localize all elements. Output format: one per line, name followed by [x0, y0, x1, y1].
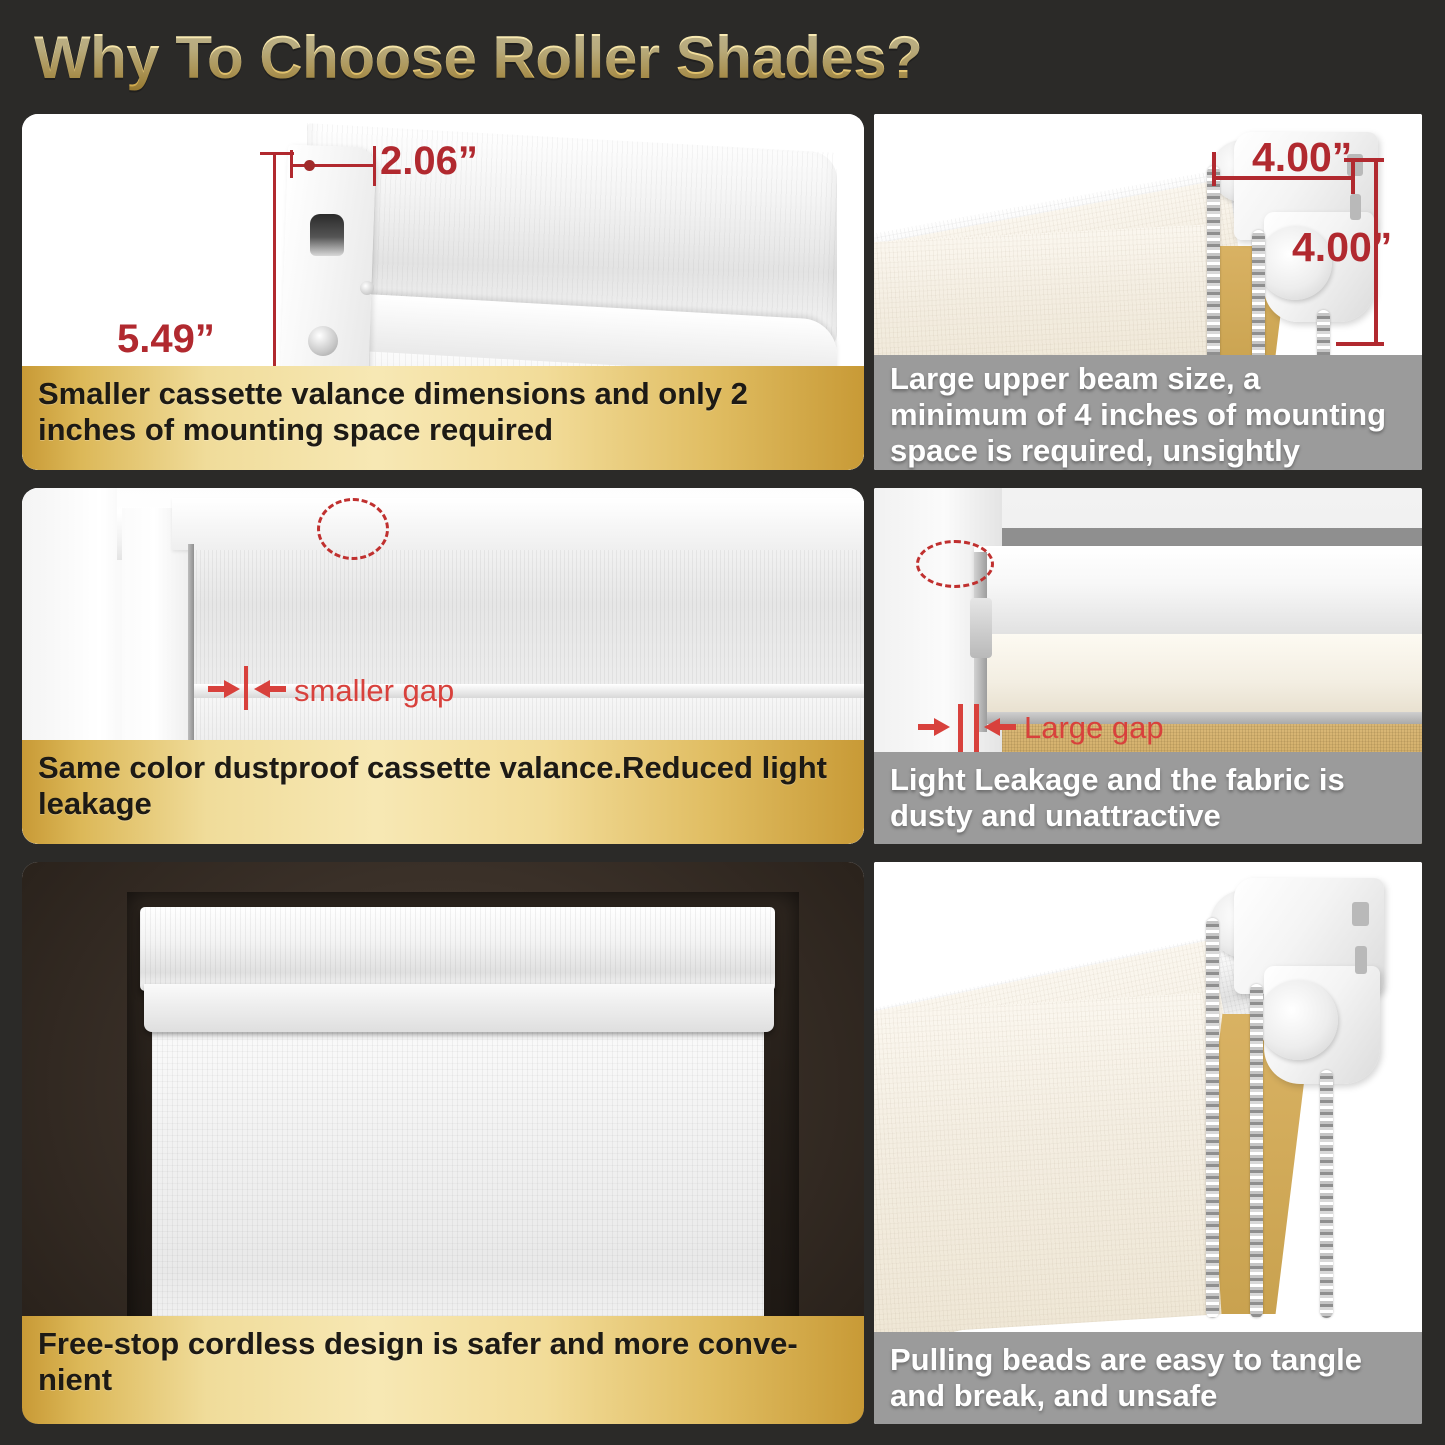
cassette-screw-upper — [360, 281, 374, 295]
bead-chain-left — [1206, 918, 1219, 1318]
gap-arrow-right-icon — [254, 678, 286, 700]
beam-height-label: 4.00” — [1292, 224, 1392, 271]
panel-1-photo: 2.06” 5.49” Smaller cassette valance dim… — [22, 114, 864, 470]
competitor-clip — [970, 598, 992, 658]
cassette-end-cap — [280, 145, 377, 393]
highlight-circle — [317, 498, 389, 560]
beam-height-tick-bottom — [1336, 342, 1384, 346]
bracket-notch-mid — [1355, 946, 1367, 974]
competitor-valance-lower — [984, 634, 1422, 714]
roller-shade-fabric — [152, 1030, 764, 1352]
beam-width-label: 4.00” — [1252, 134, 1352, 181]
panel-6-photo: Pulling beads are easy to tangle and bre… — [874, 862, 1422, 1424]
panel-5-caption: Free-stop cordless design is safer and m… — [22, 1316, 864, 1424]
roller-end-roundel-lower — [1258, 980, 1338, 1060]
gap-arrow-right-icon — [984, 716, 1016, 738]
bead-chain-mid — [1250, 984, 1263, 1318]
panel-6-caption: Pulling beads are easy to tangle and bre… — [874, 1332, 1422, 1424]
gap-marker-bar-2 — [974, 704, 979, 754]
cassette-valance-lip — [144, 984, 774, 1032]
highlight-circle — [916, 540, 994, 588]
bracket-notch-top — [1352, 902, 1369, 926]
panel-4-photo: Large gap Light Leakage and the fabric i… — [874, 488, 1422, 844]
width-dim-tick-right — [373, 146, 376, 186]
shade-fabric-front — [874, 993, 1221, 1337]
panel-2-caption: Large upper beam size, a minimum of 4 in… — [874, 355, 1422, 470]
panel-cordless-design: Free-stop cordless design is safer and m… — [22, 862, 864, 1424]
width-dimension-label: 2.06” — [380, 139, 478, 184]
gap-arrow-left-icon — [208, 678, 240, 700]
bracket-notch-mid — [1350, 194, 1361, 220]
gap-arrow-left-icon — [918, 716, 950, 738]
cassette-valance — [140, 907, 775, 991]
shade-mid-rail — [192, 684, 864, 698]
dimension-origin-dot — [304, 160, 315, 171]
panel-large-upper-beam: 4.00” 4.00” Large upper beam size, a min… — [874, 114, 1422, 470]
panel-light-leakage: Large gap Light Leakage and the fabric i… — [874, 488, 1422, 844]
comparison-grid: 2.06” 5.49” Smaller cassette valance dim… — [0, 0, 1445, 1445]
panel-dustproof-valance: smaller gap Same color dustproof cassett… — [22, 488, 864, 844]
cassette-screw-lower — [308, 326, 338, 356]
panel-1-caption: Smaller cassette valance dimensions and … — [22, 366, 864, 470]
panel-3-photo: smaller gap Same color dustproof cassett… — [22, 488, 864, 844]
bead-chain-right — [1320, 1070, 1333, 1318]
panel-2-photo: 4.00” 4.00” Large upper beam size, a min… — [874, 114, 1422, 470]
panel-4-caption: Light Leakage and the fabric is dusty an… — [874, 752, 1422, 844]
gap-marker-bar — [244, 666, 248, 710]
panel-3-caption: Same color dustproof cassette valance.Re… — [22, 740, 864, 844]
panel-5-photo: Free-stop cordless design is safer and m… — [22, 862, 864, 1424]
height-dim-tick-top — [260, 152, 294, 155]
shade-upper-panel — [192, 550, 864, 686]
smaller-gap-label: smaller gap — [294, 673, 454, 709]
height-dimension-label: 5.49” — [117, 317, 215, 362]
competitor-valance — [974, 546, 1422, 638]
panel-pulling-beads: Pulling beads are easy to tangle and bre… — [874, 862, 1422, 1424]
large-gap-label: Large gap — [1024, 710, 1164, 746]
panel-smaller-cassette: 2.06” 5.49” Smaller cassette valance dim… — [22, 114, 864, 470]
cassette-slot — [310, 214, 344, 256]
width-dim-line — [290, 164, 376, 167]
frame-bevel — [172, 498, 864, 550]
gap-marker-bar — [958, 704, 963, 754]
beam-width-tick-left — [1212, 152, 1216, 186]
